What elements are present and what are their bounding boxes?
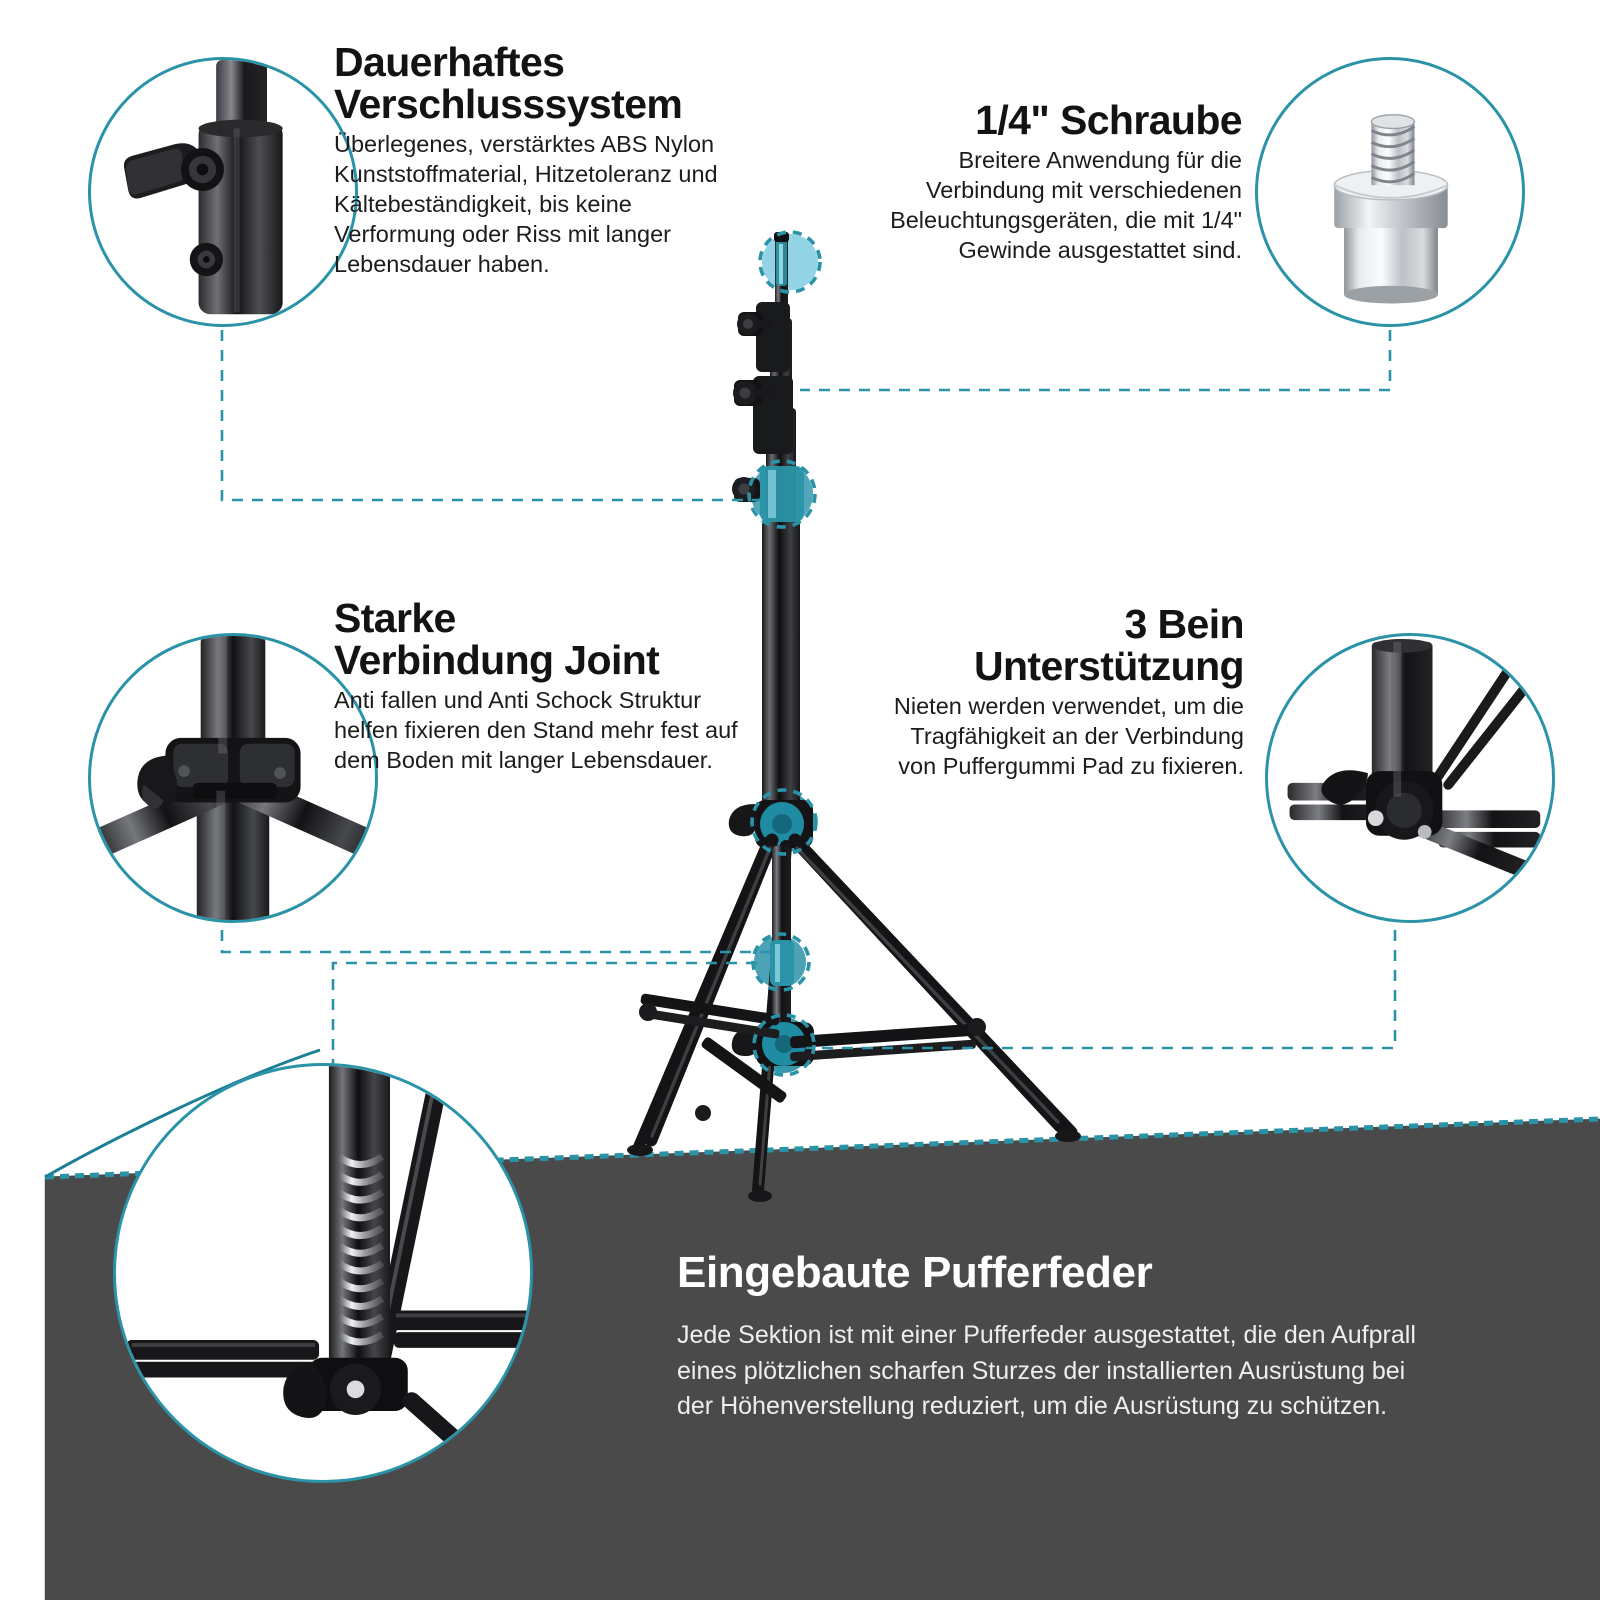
feature-text-buffer-spring: Eingebaute Pufferfeder Jede Sektion ist … xyxy=(677,1250,1442,1425)
feature-heading-quarter-screw: 1/4" Schraube xyxy=(870,100,1242,142)
feature-body-quarter-screw: Breitere Anwendung für die Verbindung mi… xyxy=(870,145,1242,265)
callout-image-buffer-spring xyxy=(113,1063,533,1483)
callout-image-quarter-screw xyxy=(1255,57,1525,327)
infographic-stage: Dauerhaftes Verschlusssystem Überlegenes… xyxy=(0,0,1600,1600)
feature-heading-lock-system-l2: Verschlusssystem xyxy=(334,84,754,126)
feature-heading-strong-joint-l1: Starke xyxy=(334,598,746,640)
feature-body-lock-system: Überlegenes, verstärktes ABS Nylon Kunst… xyxy=(334,129,754,279)
feature-text-strong-joint: Starke Verbindung Joint Anti fallen und … xyxy=(334,598,746,775)
feature-heading-strong-joint-l2: Verbindung Joint xyxy=(334,640,746,682)
feature-heading-buffer-spring: Eingebaute Pufferfeder xyxy=(677,1250,1442,1296)
callout-image-lock-system xyxy=(88,57,358,327)
feature-body-buffer-spring: Jede Sektion ist mit einer Pufferfeder a… xyxy=(677,1318,1442,1425)
feature-text-quarter-screw: 1/4" Schraube Breitere Anwendung für die… xyxy=(870,100,1242,265)
callout-image-three-leg-base xyxy=(1265,633,1555,923)
feature-body-three-leg: Nieten werden verwendet, um die Tragfähi… xyxy=(880,691,1244,781)
feature-text-lock-system: Dauerhaftes Verschlusssystem Überlegenes… xyxy=(334,42,754,279)
feature-text-three-leg: 3 Bein Unterstützung Nieten werden verwe… xyxy=(880,604,1244,781)
feature-heading-three-leg-l1: 3 Bein xyxy=(880,604,1244,646)
feature-heading-lock-system-l1: Dauerhaftes xyxy=(334,42,754,84)
feature-body-strong-joint: Anti fallen und Anti Schock Struktur hel… xyxy=(334,685,746,775)
feature-heading-three-leg-l2: Unterstützung xyxy=(880,646,1244,688)
